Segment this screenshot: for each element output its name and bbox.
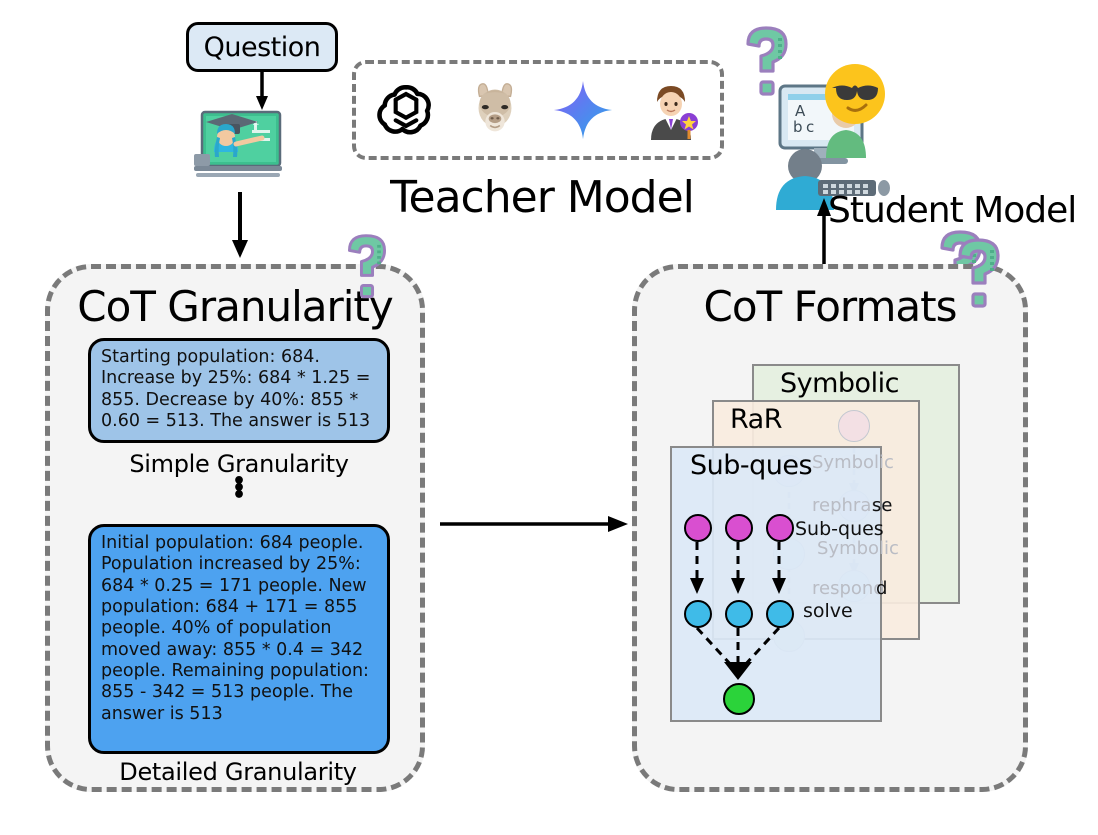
detailed-granularity-caption: Detailed Granularity bbox=[78, 758, 398, 786]
chain-label-symbolic-2: Symbolic bbox=[817, 538, 899, 559]
simple-granularity-textbox: Starting population: 684. Increase by 25… bbox=[88, 338, 390, 443]
arrow-teacher-to-granularity bbox=[226, 192, 256, 260]
svg-text:b: b bbox=[793, 118, 803, 136]
detailed-granularity-textbox: Initial population: 684 people. Populati… bbox=[88, 524, 390, 754]
format-card-symbolic-label: Symbolic bbox=[780, 368, 899, 399]
chain-label-d: d bbox=[876, 578, 887, 599]
chain-label-symbolic-1: Symbolic bbox=[812, 452, 894, 473]
node-final-answer bbox=[723, 683, 755, 715]
node-intermediate-3 bbox=[766, 600, 794, 628]
chain-label-solve: solve bbox=[803, 600, 853, 622]
ellipsis-decoration: ••• bbox=[88, 478, 390, 499]
arrow-granularity-to-formats bbox=[440, 512, 630, 536]
svg-text:c: c bbox=[806, 118, 814, 136]
node-intermediate-2 bbox=[725, 600, 753, 628]
chain-label-se: se bbox=[872, 495, 892, 516]
chain-label-respond: respond bbox=[812, 578, 885, 599]
format-card-rar-label: RaR bbox=[730, 404, 782, 435]
student-model-label: Student Model bbox=[828, 190, 1076, 231]
arrow-formats-to-student bbox=[812, 196, 836, 266]
ghost-node-rar-start bbox=[838, 410, 870, 442]
teacher-avatar-icon: + bbox=[186, 108, 290, 188]
question-box: Question bbox=[186, 22, 338, 72]
question-label: Question bbox=[204, 32, 321, 63]
student-avatar-icon: A b c bbox=[762, 62, 894, 210]
figure-canvas: Question + bbox=[0, 0, 1098, 835]
node-sub-question-1 bbox=[684, 514, 712, 542]
node-intermediate-1 bbox=[684, 600, 712, 628]
question-mark-decoration-icon bbox=[342, 232, 392, 304]
format-card-sub-ques-label: Sub-ques bbox=[690, 450, 812, 481]
chain-label-sub-ques: Sub-ques bbox=[795, 518, 884, 540]
teacher-model-group bbox=[352, 60, 724, 160]
teacher-model-label: Teacher Model bbox=[352, 172, 732, 223]
node-sub-question-2 bbox=[725, 514, 753, 542]
node-sub-question-3 bbox=[766, 514, 794, 542]
arrow-question-to-teacher bbox=[248, 70, 278, 112]
question-mark-decoration-icon bbox=[952, 236, 1006, 314]
